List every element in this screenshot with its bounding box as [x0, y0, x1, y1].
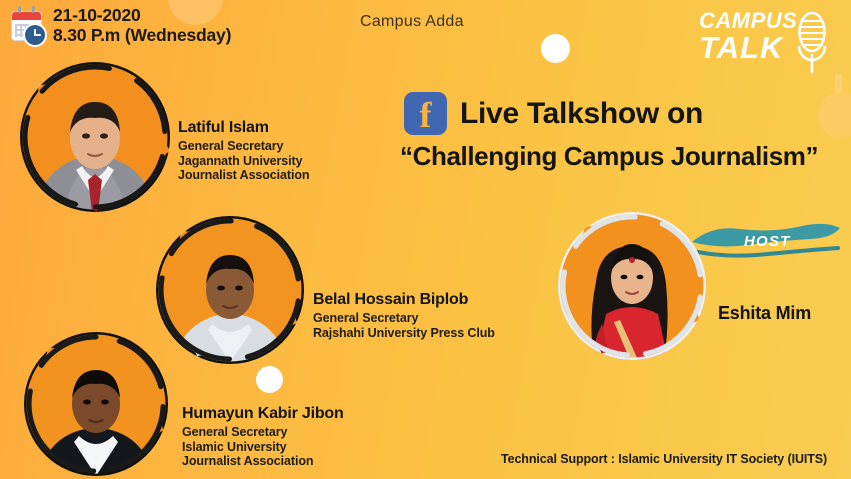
host-label: HOST	[744, 233, 790, 250]
headline-text: Live Talkshow on	[460, 97, 703, 131]
decorative-circle-white-bottom	[256, 366, 283, 393]
speaker-avatar-3	[24, 332, 168, 476]
speaker-org-1: Jagannath University	[178, 154, 309, 169]
headline-row: f Live Talkshow on	[404, 92, 703, 135]
speaker-avatar-2	[156, 216, 304, 364]
speaker-org-3: Islamic University	[182, 440, 344, 455]
speaker-role-3: General Secretary	[182, 425, 344, 440]
speaker-photo-3	[24, 332, 168, 476]
logo-line-campus: CAMPUS	[699, 10, 799, 32]
speaker-org2-1: Journalist Association	[178, 168, 309, 183]
speaker-info-3: Humayun Kabir Jibon General Secretary Is…	[182, 405, 344, 469]
speaker-org-2: Rajshahi University Press Club	[313, 326, 495, 341]
speaker-name-1: Latiful Islam	[178, 119, 309, 138]
speaker-name-2: Belal Hossain Biplob	[313, 291, 495, 310]
facebook-glyph: f	[404, 94, 447, 136]
host-avatar	[558, 212, 706, 360]
event-datetime: 21-10-2020 8.30 P.m (Wednesday)	[12, 6, 231, 45]
decorative-circle-yellow-right	[818, 92, 851, 138]
technical-support-text: Technical Support : Islamic University I…	[501, 452, 827, 466]
speaker-photo-2	[156, 216, 304, 364]
speaker-avatar-1	[20, 62, 170, 212]
speaker-role-1: General Secretary	[178, 139, 309, 154]
speaker-info-1: Latiful Islam General Secretary Jagannat…	[178, 119, 309, 183]
brand-campus-adda: Campus Adda	[360, 13, 464, 31]
decorative-circle-white-top	[541, 34, 570, 63]
speaker-org2-3: Journalist Association	[182, 454, 344, 469]
calendar-clock-icon	[12, 9, 46, 45]
speaker-info-2: Belal Hossain Biplob General Secretary R…	[313, 291, 495, 340]
event-time: 8.30 P.m (Wednesday)	[53, 26, 231, 46]
poster-canvas: 21-10-2020 8.30 P.m (Wednesday) Campus A…	[0, 0, 851, 479]
speaker-photo-1	[20, 62, 170, 212]
speaker-role-2: General Secretary	[313, 311, 495, 326]
host-name: Eshita Mim	[718, 303, 811, 324]
host-photo	[558, 212, 706, 360]
speaker-name-3: Humayun Kabir Jibon	[182, 405, 344, 424]
microphone-icon	[795, 12, 829, 74]
logo-line-talk: TALK	[699, 32, 799, 63]
campus-talk-logo: CAMPUS TALK	[699, 8, 837, 78]
subheadline-text: “Challenging Campus Journalism”	[400, 141, 818, 172]
event-date: 21-10-2020	[53, 6, 231, 26]
facebook-icon: f	[404, 92, 447, 135]
